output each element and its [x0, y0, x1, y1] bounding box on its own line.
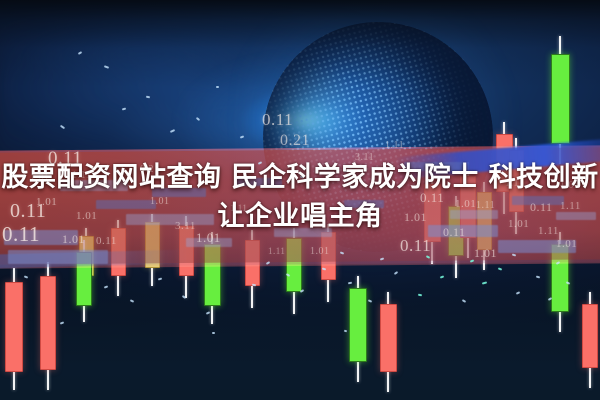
particle-speck — [266, 261, 270, 265]
particle-speck — [104, 65, 109, 69]
particle-speck — [130, 299, 134, 303]
particle-speck — [566, 281, 570, 285]
particle-speck — [182, 295, 186, 299]
particle-speck — [286, 273, 290, 277]
particle-speck — [418, 294, 422, 297]
particle-speck — [394, 271, 398, 275]
particle-speck — [482, 281, 487, 284]
particle-speck — [548, 297, 552, 301]
particle-speck — [170, 129, 175, 133]
particle-speck — [348, 282, 352, 285]
banner-image: 0.110.210.111.011.110.111.011.010.111.01… — [0, 0, 600, 400]
headline-line-1: 股票配资网站查询 民企科学家成为院士 科技创新 — [0, 158, 600, 197]
particle-speck — [122, 108, 126, 111]
particle-speck — [196, 117, 200, 121]
particle-speck — [470, 259, 474, 262]
headline-line-2: 让企业唱主角 — [0, 197, 600, 236]
particle-speck — [146, 96, 150, 99]
particle-speck — [498, 267, 502, 270]
particle-speck — [252, 284, 256, 287]
particle-speck — [104, 285, 108, 288]
particle-speck — [240, 135, 244, 138]
particle-speck — [368, 299, 372, 303]
particle-speck — [24, 275, 28, 278]
particle-speck — [462, 299, 466, 303]
particle-speck — [300, 289, 304, 293]
particle-speck — [440, 275, 444, 278]
particle-speck — [206, 311, 210, 315]
particle-speck — [322, 268, 326, 271]
particle-speck — [426, 255, 430, 259]
particle-speck — [340, 251, 344, 254]
particle-speck — [536, 276, 540, 279]
particle-speck — [212, 332, 215, 334]
particle-speck — [516, 291, 520, 295]
particle-speck — [158, 278, 162, 281]
particle-speck — [344, 330, 347, 333]
particle-speck — [216, 86, 219, 88]
particle-speck — [556, 261, 560, 265]
particle-speck — [60, 321, 64, 324]
particle-speck — [60, 125, 65, 130]
particle-speck — [78, 51, 82, 55]
headline-text: 股票配资网站查询 民企科学家成为院士 科技创新 让企业唱主角 — [0, 158, 600, 236]
particle-speck — [380, 257, 384, 260]
particle-speck — [512, 253, 516, 256]
